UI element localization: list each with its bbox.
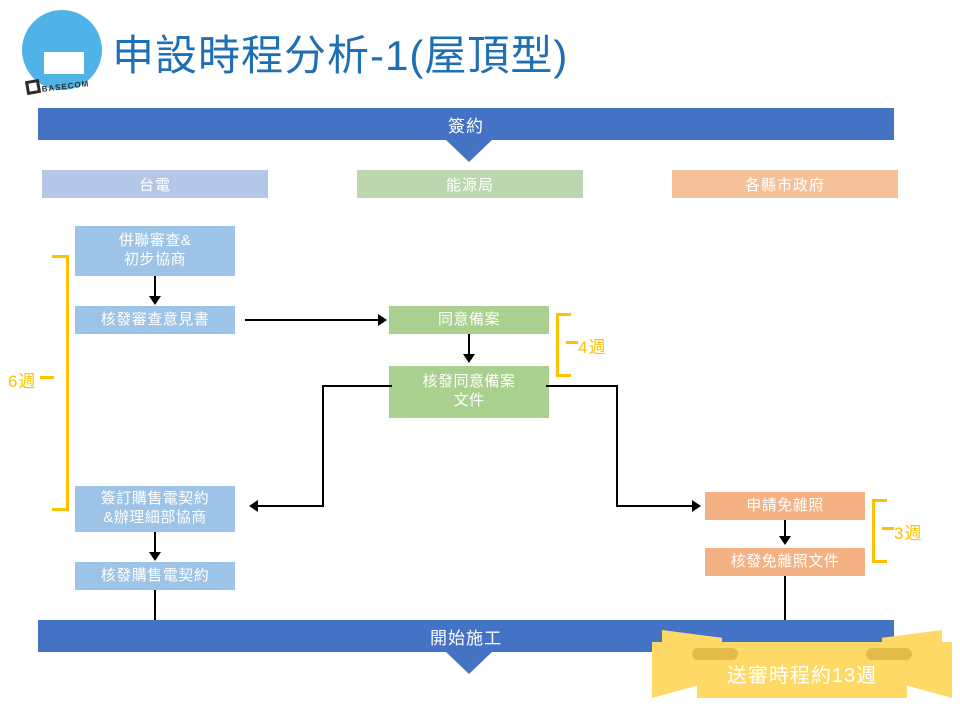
box-taipower-issue: 核發購售電契約 <box>75 562 235 590</box>
box-energy-doc-line1: 核發同意備案 <box>422 373 515 392</box>
connector-doc-to-gov-arrow-icon <box>692 500 701 512</box>
box-taipower-opinion: 核發審查意見書 <box>75 306 235 334</box>
box-gov-issue: 核發免雜照文件 <box>705 548 865 576</box>
box-energy-doc-line2: 文件 <box>422 392 515 411</box>
box-taipower-review-line2: 初步協商 <box>119 251 192 270</box>
lane-header-local-government-label: 各縣市政府 <box>745 174 825 195</box>
banner-construction-label: 開始施工 <box>430 624 502 649</box>
banner-signing: 簽約 <box>38 108 894 140</box>
ribbon-label: 送審時程約13週 <box>652 656 952 690</box>
connector-issue-to-construction <box>154 590 156 622</box>
logo-bar-icon <box>44 52 84 74</box>
banner-construction-arrow-icon <box>446 652 492 674</box>
banner-signing-label: 簽約 <box>448 112 484 137</box>
duration-bracket-government-tick <box>882 527 894 530</box>
duration-bracket-government <box>872 499 887 563</box>
connector-gov-to-construction <box>784 576 786 622</box>
box-taipower-review: 併聯審查& 初步協商 <box>75 226 235 276</box>
box-gov-apply: 申請免雜照 <box>705 492 865 520</box>
lane-header-taipower-label: 台電 <box>139 174 171 195</box>
duration-label-taipower: 6週 <box>8 367 36 392</box>
connector-doc-to-gov-top <box>546 385 618 387</box>
duration-label-energy: 4週 <box>578 333 606 358</box>
lane-header-local-government: 各縣市政府 <box>672 170 898 198</box>
box-gov-issue-label: 核發免雜照文件 <box>731 553 840 572</box>
connector-opinion-to-filing <box>245 319 383 321</box>
slide-canvas: BASECOM 申設時程分析-1(屋頂型) 簽約 台電 能源局 各縣市政府 併聯… <box>0 0 960 720</box>
box-taipower-contract-line2: &辦理細部協商 <box>101 509 210 528</box>
lane-header-energy-bureau-label: 能源局 <box>446 174 494 195</box>
connector-doc-to-gov-vertical <box>616 385 618 506</box>
ribbon-total-duration: 送審時程約13週 <box>652 630 952 708</box>
box-taipower-contract: 簽訂購售電契約 &辦理細部協商 <box>75 486 235 532</box>
box-energy-filing-label: 同意備案 <box>438 311 500 330</box>
box-taipower-contract-line1: 簽訂購售電契約 <box>101 490 210 509</box>
box-taipower-review-line1: 併聯審查& <box>119 232 192 251</box>
connector-doc-to-gov-bottom <box>616 505 694 507</box>
duration-bracket-energy-tick <box>566 341 578 344</box>
box-gov-apply-label: 申請免雜照 <box>746 497 824 516</box>
basecom-logo: BASECOM <box>18 8 106 100</box>
connector-review-to-opinion-arrow-icon <box>149 296 161 305</box>
duration-label-government: 3週 <box>894 519 922 544</box>
duration-bracket-taipower-tick <box>40 376 54 379</box>
box-taipower-issue-label: 核發購售電契約 <box>101 567 210 586</box>
duration-bracket-energy <box>556 313 571 377</box>
connector-filing-to-doc-arrow-icon <box>463 354 475 363</box>
banner-signing-arrow-icon <box>446 140 492 162</box>
connector-opinion-to-filing-arrow-icon <box>378 314 387 326</box>
box-taipower-opinion-label: 核發審查意見書 <box>101 311 210 330</box>
page-title: 申設時程分析-1(屋頂型) <box>112 22 568 83</box>
connector-doc-to-contract-top <box>322 385 392 387</box>
duration-bracket-taipower <box>52 255 69 511</box>
connector-doc-to-contract-vertical <box>322 385 324 506</box>
connector-apply-to-issue-arrow-icon <box>779 536 791 545</box>
box-energy-doc: 核發同意備案 文件 <box>389 366 549 418</box>
connector-doc-to-contract-arrow-icon <box>249 500 258 512</box>
box-energy-filing: 同意備案 <box>389 306 549 334</box>
connector-doc-to-contract-bottom <box>258 505 324 507</box>
connector-contract-to-issue-arrow-icon <box>149 552 161 561</box>
lane-header-taipower: 台電 <box>42 170 268 198</box>
lane-header-energy-bureau: 能源局 <box>357 170 583 198</box>
